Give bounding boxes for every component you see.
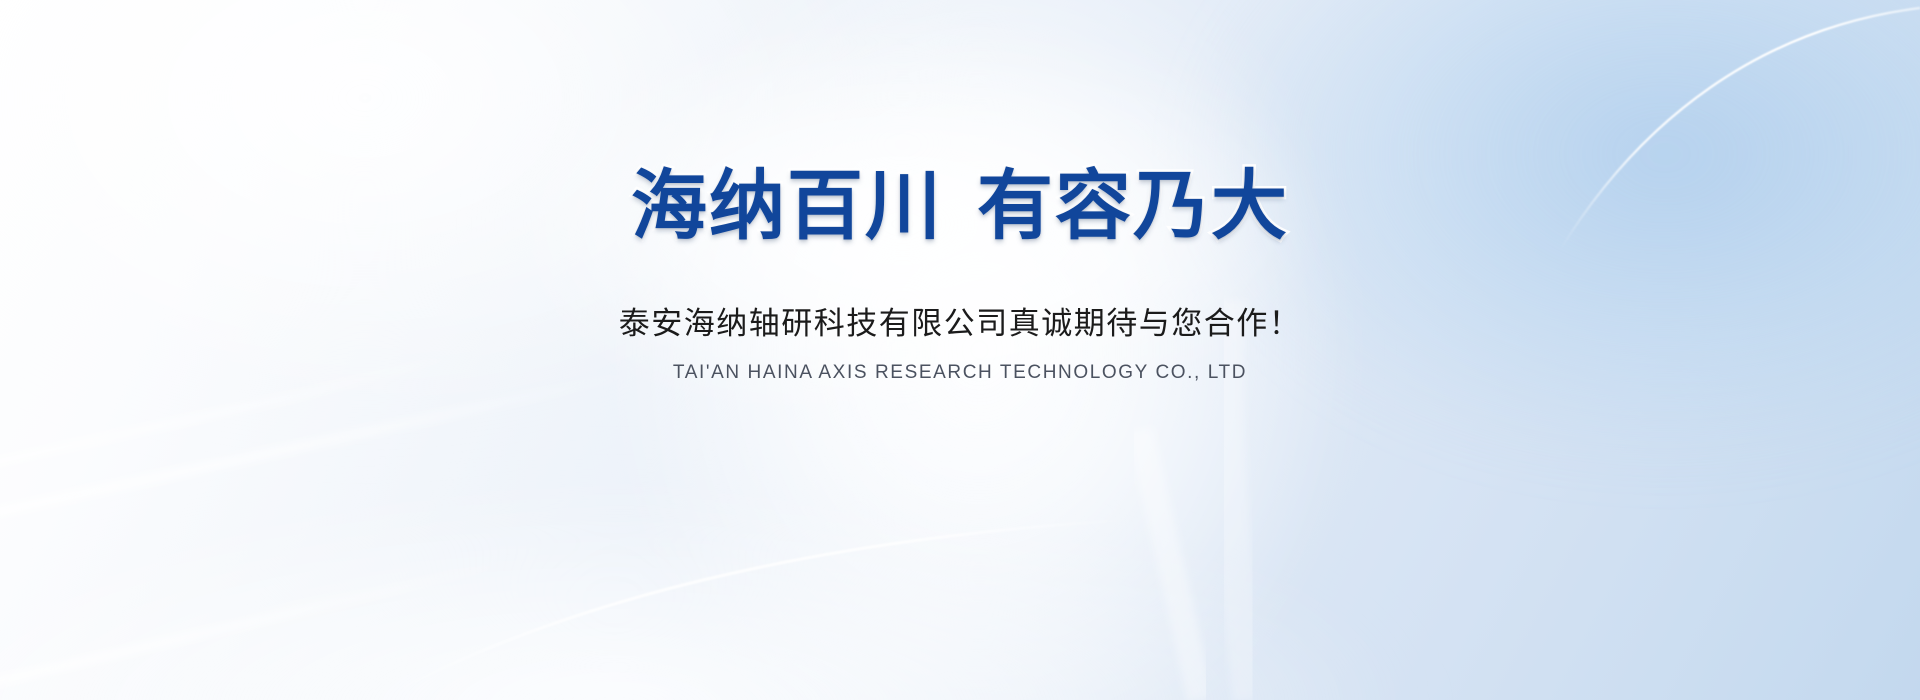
banner-content: 海纳百川有容乃大 泰安海纳轴研科技有限公司真诚期待与您合作！ TAI'AN HA…: [0, 0, 1920, 700]
headline-part-1: 海纳百川: [631, 161, 943, 250]
banner-headline: 海纳百川有容乃大: [0, 168, 1920, 244]
banner-subtitle-english: TAI'AN HAINA AXIS RESEARCH TECHNOLOGY CO…: [0, 362, 1920, 384]
banner-subtitle-chinese: 泰安海纳轴研科技有限公司真诚期待与您合作！: [0, 305, 1920, 344]
headline-part-2: 有容乃大: [977, 161, 1289, 250]
hero-banner: 海纳百川有容乃大 泰安海纳轴研科技有限公司真诚期待与您合作！ TAI'AN HA…: [0, 0, 1920, 700]
